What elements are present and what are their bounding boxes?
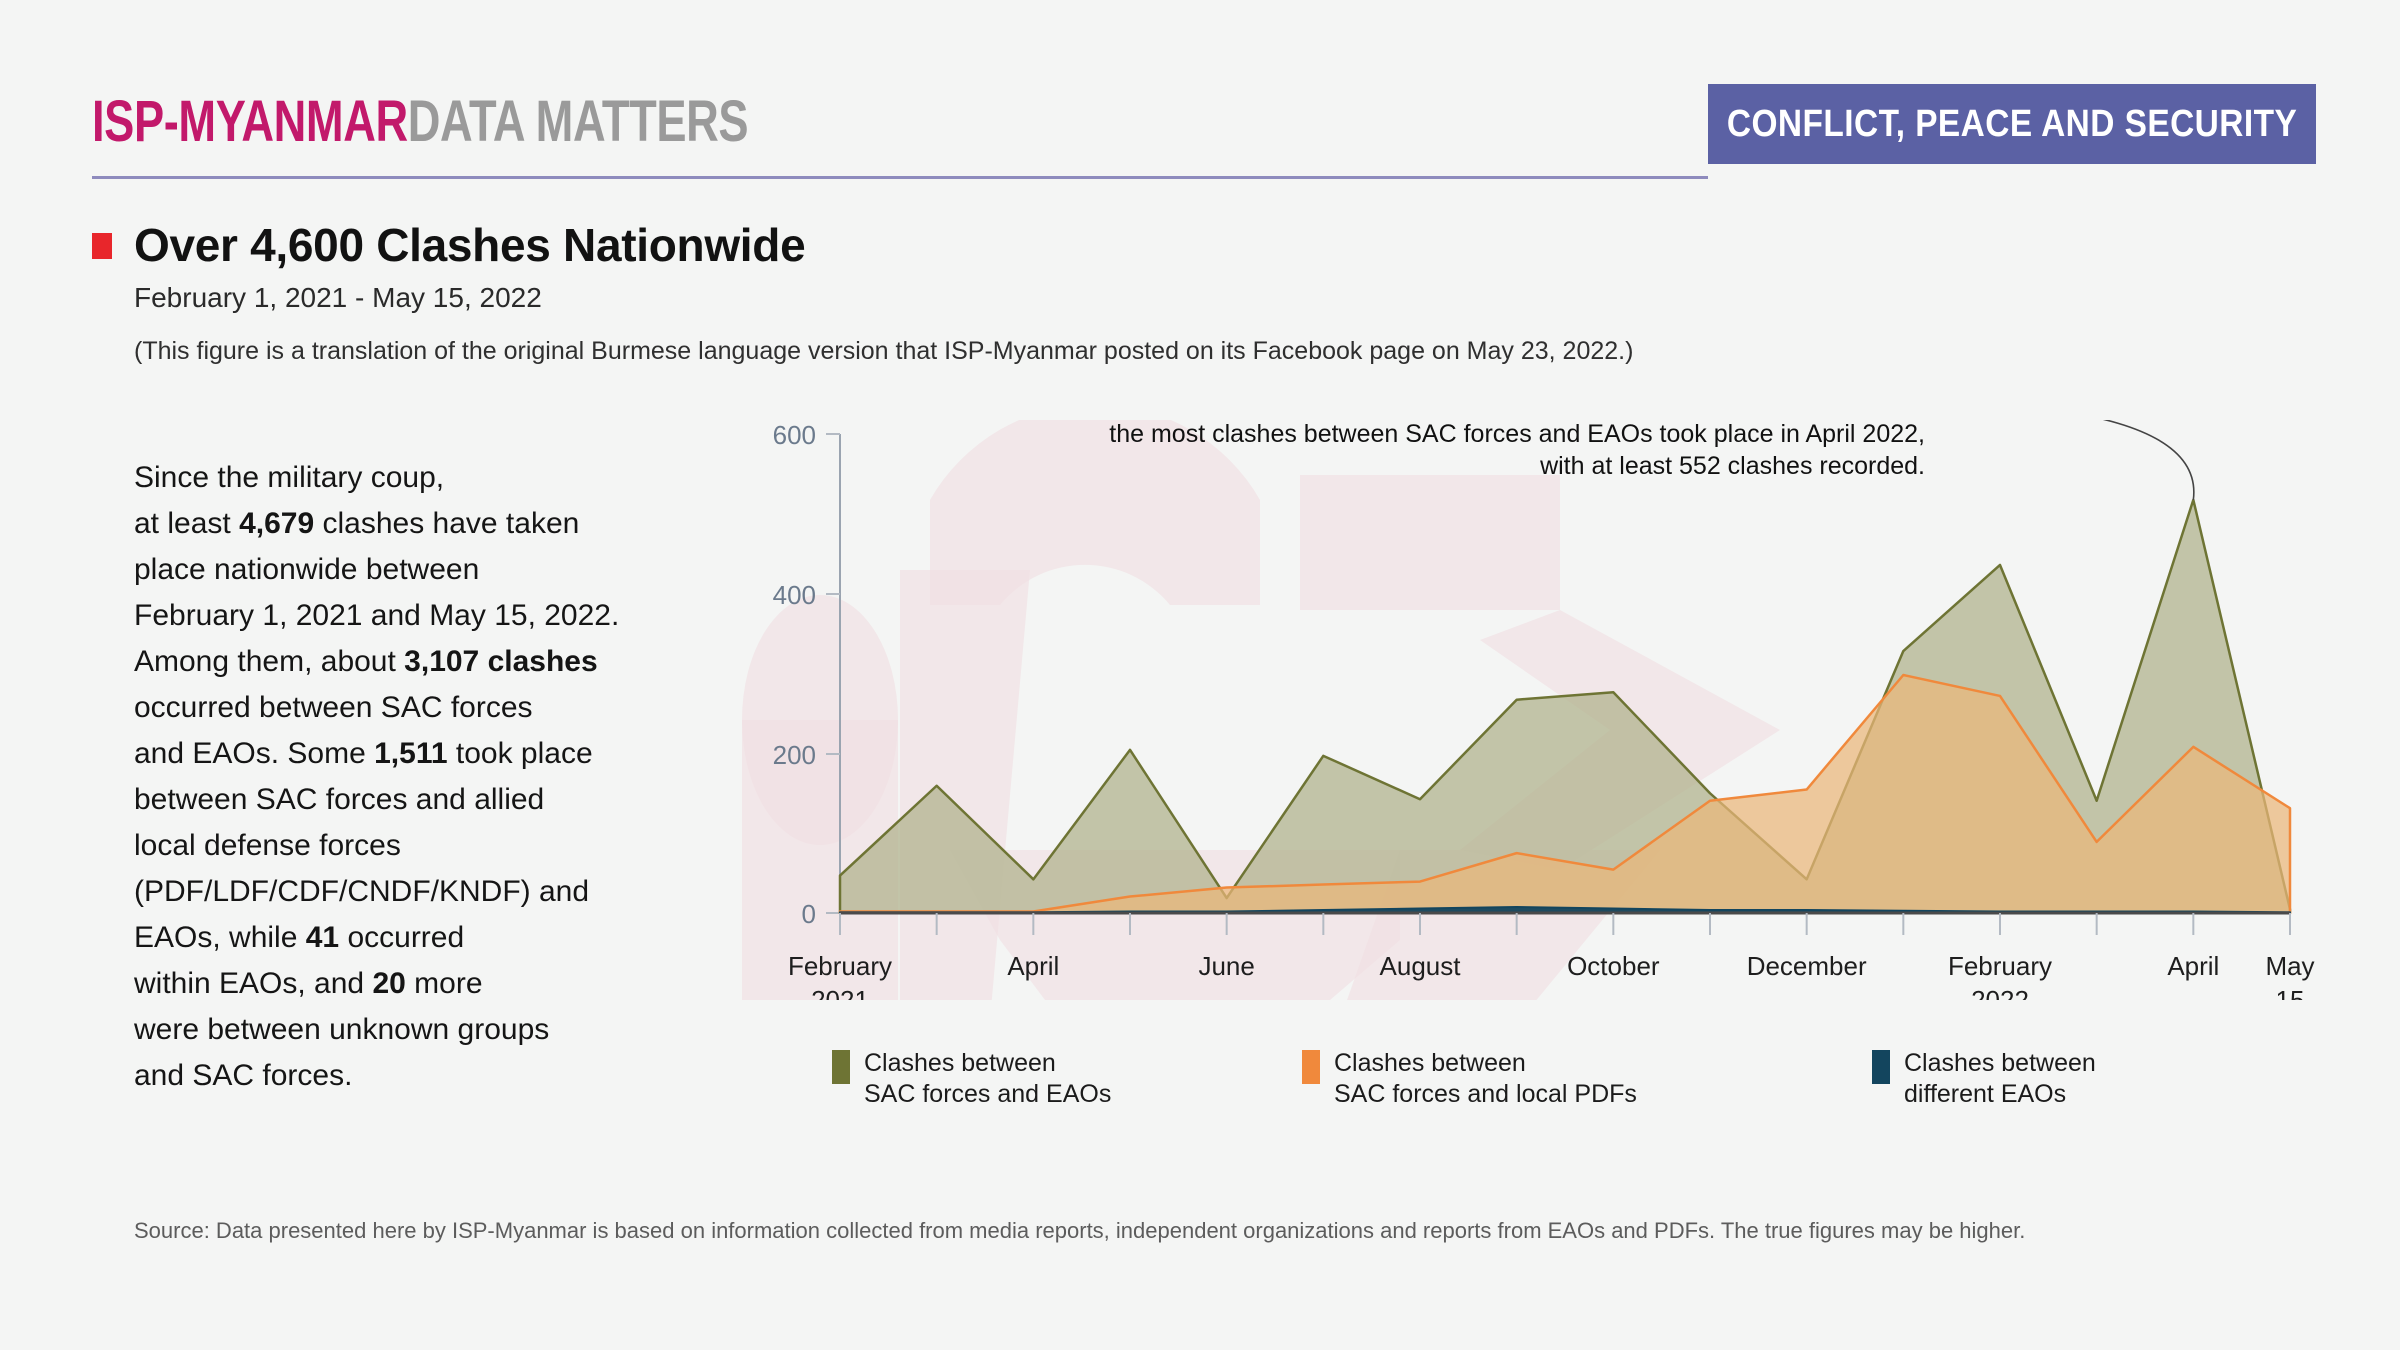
brand-logo: ISP-MYANMARDATA MATTERS xyxy=(92,88,748,155)
annotation-line-2: the most clashes between SAC forces and … xyxy=(1109,420,1925,448)
x-tick-sublabel: 2021 xyxy=(811,985,869,1000)
date-range-subtitle: February 1, 2021 - May 15, 2022 xyxy=(134,282,542,314)
title-bullet-icon xyxy=(92,233,112,259)
brand-logo-secondary: DATA MATTERS xyxy=(408,89,748,154)
narrative-paragraph: Since the military coup,at least 4,679 c… xyxy=(134,455,674,1099)
legend-item-sac-pdf[interactable]: Clashes between SAC forces and local PDF… xyxy=(1302,1048,1872,1110)
ytick-600: 600 xyxy=(773,420,816,450)
ytick-400: 400 xyxy=(773,580,816,610)
chart-legend: Clashes between SAC forces and EAOs Clas… xyxy=(832,1048,2312,1110)
ytick-0: 0 xyxy=(802,899,816,929)
clashes-area-chart: 600 400 200 0 February2021AprilJuneAugus… xyxy=(700,420,2360,1000)
x-tick-label: October xyxy=(1567,951,1660,981)
annotation-leader-line xyxy=(1951,420,2194,500)
x-tick-label: April xyxy=(2167,951,2219,981)
x-tick-label: February xyxy=(1948,951,2052,981)
header-divider xyxy=(92,176,1708,179)
legend-label: Clashes between SAC forces and EAOs xyxy=(864,1048,1111,1110)
chart-annotation: In the aftermath of the military coup, t… xyxy=(1109,420,2194,500)
x-tick-label: August xyxy=(1380,951,1462,981)
legend-swatch-icon xyxy=(1872,1050,1890,1084)
category-badge-label: CONFLICT, PEACE AND SECURITY xyxy=(1727,103,2297,146)
x-tick-sublabel: 2022 xyxy=(1971,985,2029,1000)
x-tick-label: February xyxy=(788,951,892,981)
source-note: Source: Data presented here by ISP-Myanm… xyxy=(134,1218,2314,1244)
ytick-200: 200 xyxy=(773,740,816,770)
x-tick-label: December xyxy=(1747,951,1867,981)
legend-item-sac-eao[interactable]: Clashes between SAC forces and EAOs xyxy=(832,1048,1302,1110)
x-tick-label: April xyxy=(1007,951,1059,981)
brand-logo-primary: ISP-MYANMAR xyxy=(92,89,408,154)
x-tick-sublabel: 15 xyxy=(2276,985,2305,1000)
legend-swatch-icon xyxy=(1302,1050,1320,1084)
translation-note: (This figure is a translation of the ori… xyxy=(134,337,1633,366)
x-tick-label: June xyxy=(1198,951,1254,981)
page-header: ISP-MYANMARDATA MATTERS CONFLICT, PEACE … xyxy=(0,0,2400,200)
annotation-line-3: with at least 552 clashes recorded. xyxy=(1539,452,1925,480)
title-row: Over 4,600 Clashes Nationwide xyxy=(92,218,805,272)
legend-label: Clashes between different EAOs xyxy=(1904,1048,2096,1110)
category-badge: CONFLICT, PEACE AND SECURITY xyxy=(1708,84,2316,164)
legend-item-eao-eao[interactable]: Clashes between different EAOs xyxy=(1872,1048,2292,1110)
chart-canvas: 600 400 200 0 February2021AprilJuneAugus… xyxy=(700,420,2360,1000)
legend-label: Clashes between SAC forces and local PDF… xyxy=(1334,1048,1637,1110)
x-tick-label: May xyxy=(2265,951,2314,981)
page-title: Over 4,600 Clashes Nationwide xyxy=(134,218,805,272)
legend-swatch-icon xyxy=(832,1050,850,1084)
